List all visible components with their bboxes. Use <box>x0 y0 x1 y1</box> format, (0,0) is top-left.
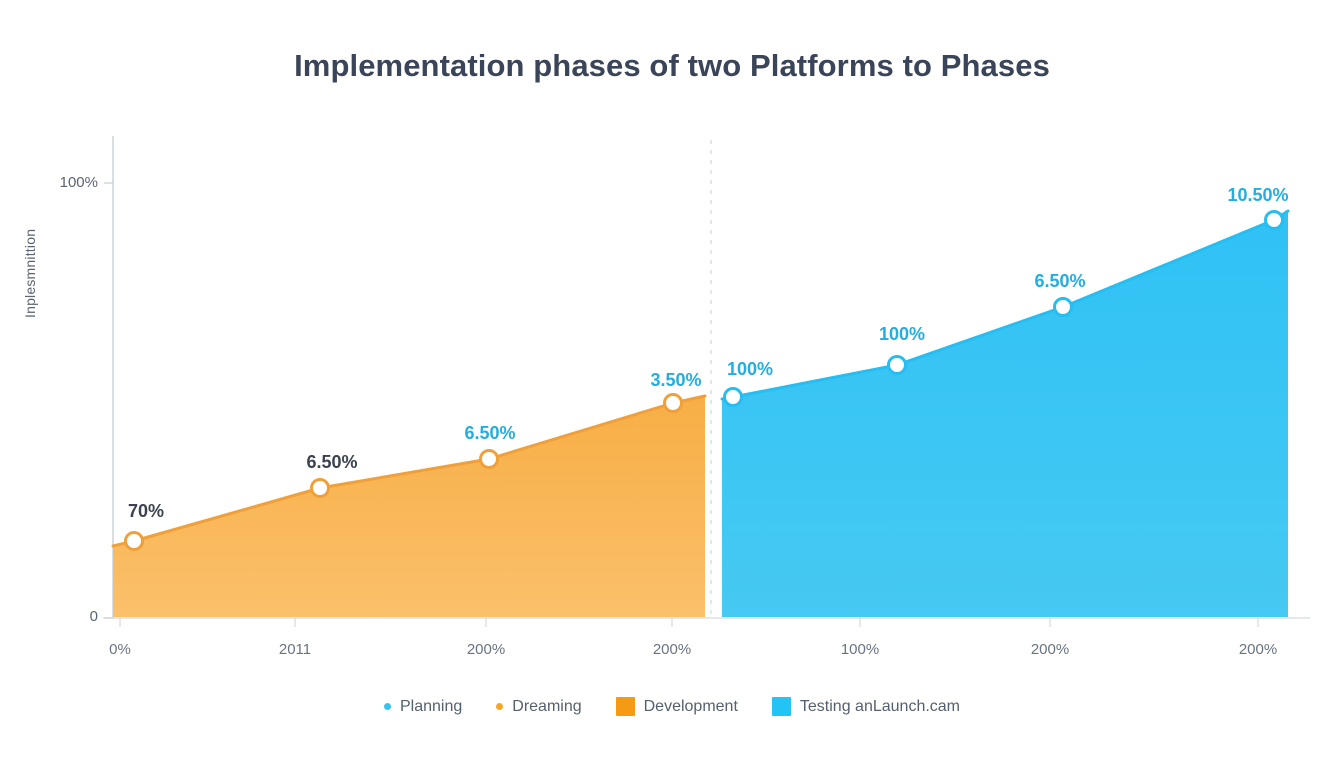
x-tick-label-left-2: 200% <box>467 641 505 658</box>
x-tick-label-left-3: 200% <box>653 641 691 658</box>
y-axis-title: Inplesmnittion <box>22 294 38 318</box>
data-label-blue-1: 100% <box>879 324 925 345</box>
data-point-marker[interactable] <box>889 357 906 374</box>
legend-item-dreaming[interactable]: Dreaming <box>496 698 581 716</box>
legend-label-dreaming: Dreaming <box>512 698 581 716</box>
legend-dot-icon <box>496 703 503 710</box>
legend-square-icon <box>616 697 635 716</box>
orange-area-fill <box>113 396 705 617</box>
chart-container: Implementation phases of two Platforms t… <box>0 0 1344 768</box>
data-label-orange-2: 6.50% <box>464 423 515 444</box>
x-tick-marks <box>120 618 1258 627</box>
legend-item-development[interactable]: Development <box>616 697 738 716</box>
data-point-marker[interactable] <box>126 533 143 550</box>
data-label-orange-1: 6.50% <box>306 452 357 473</box>
legend-item-planning[interactable]: Planning <box>384 698 462 716</box>
data-point-marker[interactable] <box>1055 299 1072 316</box>
data-label-blue-2: 6.50% <box>1034 271 1085 292</box>
series-area-testing-launch <box>722 211 1288 617</box>
data-point-marker[interactable] <box>665 395 682 412</box>
x-tick-label-right-0: 100% <box>841 641 879 658</box>
legend-label-planning: Planning <box>400 698 462 716</box>
legend-dot-icon <box>384 703 391 710</box>
data-label-orange-0: 70% <box>128 501 164 522</box>
data-label-blue-0: 100% <box>727 359 773 380</box>
x-tick-label-left-0: 0% <box>109 641 131 658</box>
x-tick-label-left-1: 2011 <box>279 641 311 658</box>
legend-label-testing-launch: Testing anLaunch.cam <box>800 698 960 716</box>
chart-legend: Planning Dreaming Development Testing an… <box>0 697 1344 716</box>
blue-area-fill <box>722 211 1288 617</box>
x-tick-label-right-2: 200% <box>1239 641 1277 658</box>
series-area-development <box>113 396 705 617</box>
data-label-blue-3: 10.50% <box>1227 185 1288 206</box>
legend-square-icon <box>772 697 791 716</box>
y-tick-label-0: 0 <box>28 608 98 625</box>
legend-label-development: Development <box>644 698 738 716</box>
x-tick-label-right-1: 200% <box>1031 641 1069 658</box>
data-label-orange-3: 3.50% <box>650 370 701 391</box>
data-point-marker[interactable] <box>725 389 742 406</box>
y-tick-label-100: 100% <box>28 174 98 191</box>
data-point-marker[interactable] <box>1266 212 1283 229</box>
legend-item-testing-launch[interactable]: Testing anLaunch.cam <box>772 697 960 716</box>
data-point-marker[interactable] <box>481 451 498 468</box>
data-point-marker[interactable] <box>312 480 329 497</box>
